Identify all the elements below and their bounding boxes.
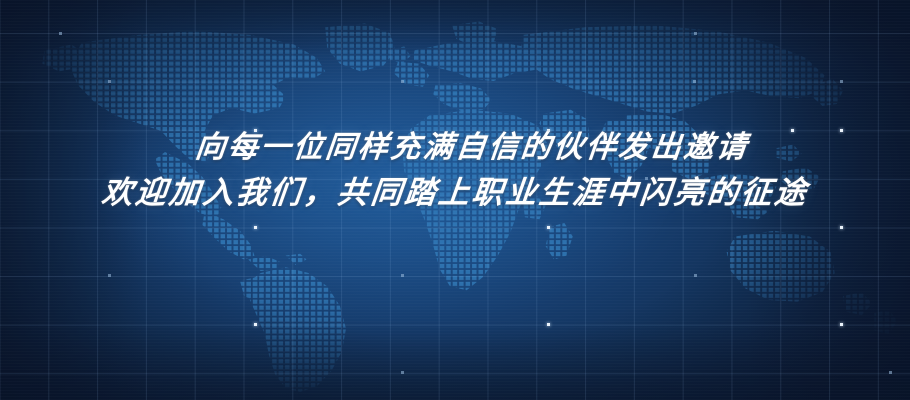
hero-banner: 向每一位同样充满自信的伙伴发出邀请 欢迎加入我们，共同踏上职业生涯中闪亮的征途	[0, 0, 910, 400]
headline-line-1: 向每一位同样充满自信的伙伴发出邀请	[0, 126, 910, 170]
headline-line-2: 欢迎加入我们，共同踏上职业生涯中闪亮的征途	[0, 170, 910, 216]
headline-block: 向每一位同样充满自信的伙伴发出邀请 欢迎加入我们，共同踏上职业生涯中闪亮的征途	[0, 126, 910, 216]
